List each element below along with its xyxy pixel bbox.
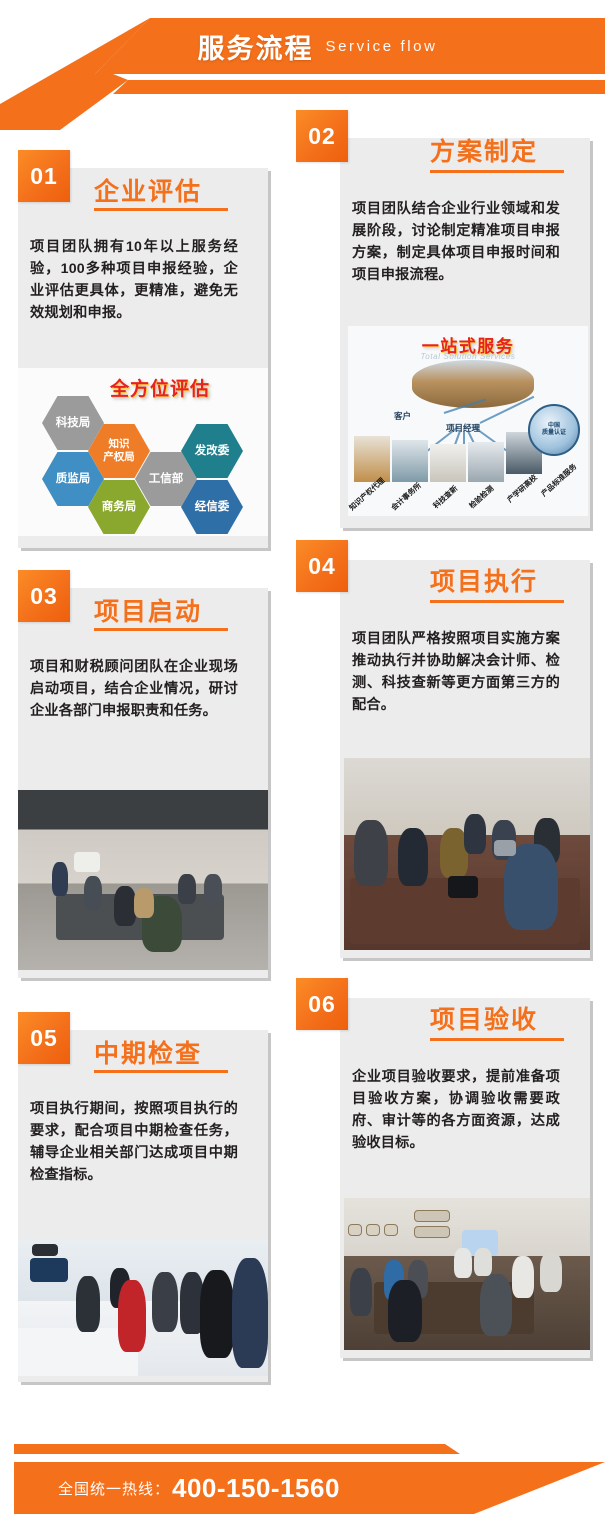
card-01-title-rule [94,208,228,211]
photo-person [52,862,68,896]
hexagon-chart-title: 全方位评估 [110,374,210,401]
card-05-number: 05 [30,1025,58,1052]
page-subtitle: Service flow [325,38,437,55]
card-01-number-badge: 01 [18,150,70,202]
card-06-number: 06 [308,991,336,1018]
one-stop-hero-photo [412,360,534,408]
service-flow-infographic: 服务流程 Service flow 01 企业评估 项目团队拥有10年以上服务经… [0,0,605,1538]
photo-certificate-frame [366,1224,380,1236]
photo-person [540,1252,562,1292]
footer-hotline-number[interactable]: 400-150-1560 [172,1473,340,1504]
card-05-title-rule [94,1070,228,1073]
photo-person [504,844,558,930]
card-04-number-badge: 04 [296,540,348,592]
card-02-number-badge: 02 [296,110,348,162]
photo-display-screen [30,1258,68,1282]
header-title-group: 服务流程 Service flow [0,18,605,74]
photo-person [464,814,486,854]
footer-hotline: 全国统一热线： 400-150-1560 [58,1462,340,1514]
one-stop-node-photo [430,444,466,482]
page-header: 服务流程 Service flow [0,0,605,110]
seal-label: 中国 质量认证 [542,423,566,437]
card-06-photo [344,1198,590,1350]
one-stop-label-manager: 项目经理 [446,422,480,434]
card-06-title-rule [430,1038,564,1041]
card-02-body: 项目团队结合企业行业领域和发展阶段，讨论制定精准项目申报方案，制定具体项目申报时… [352,198,560,286]
one-stop-label-customer: 客户 [394,410,411,422]
photo-meeting-room [18,790,268,970]
hexagon-node-label: 经信委 [195,501,230,514]
card-05-photo [18,1240,268,1376]
card-05-title: 中期检查 [94,1034,202,1070]
photo-laptop [494,840,516,856]
photo-person [512,1256,534,1298]
photo-person [76,1276,100,1332]
photo-person [350,1268,372,1316]
photo-person [178,874,196,904]
photo-person [204,874,222,904]
one-stop-branch-label: 产学研高校 [505,472,540,505]
card-01-number: 01 [30,163,58,190]
card-06-title: 项目验收 [430,1000,538,1036]
photo-conference-hall [344,1198,590,1350]
photo-person [454,1248,472,1278]
hexagon-chart: 全方位评估 科技局 知识 产权局 质监局 商务局 工信部 发改委 经信委 [18,368,268,536]
one-stop-node-photo [392,440,428,482]
one-stop-branch-label: 科技查新 [431,483,460,511]
photo-person [84,876,102,910]
photo-person [354,820,388,886]
one-stop-branch-label: 产品标准服务 [539,461,579,499]
card-03-number-badge: 03 [18,570,70,622]
photo-certificate-frame [414,1210,450,1222]
hexagon-node-label: 科技局 [56,417,91,430]
photo-person [232,1258,268,1368]
photo-office-working [344,758,590,950]
card-03-number: 03 [30,583,58,610]
card-04-title-rule [430,600,564,603]
page-footer: 全国统一热线： 400-150-1560 [0,1418,605,1538]
photo-person [388,1280,422,1342]
one-stop-branch-label: 检验检测 [467,483,496,511]
footer-hotline-label: 全国统一热线： [58,1478,170,1499]
card-01-title: 企业评估 [94,172,202,208]
photo-person [398,828,428,886]
card-02-number: 02 [308,123,336,150]
photo-person [118,1280,146,1352]
photo-person [480,1274,512,1336]
hexagon-node-label: 知识 产权局 [103,438,135,464]
card-04-title: 项目执行 [430,562,538,598]
footer-orange-stripe [14,1444,605,1454]
photo-person [474,1248,492,1276]
hexagon-node-label: 质监局 [56,473,91,486]
page-title: 服务流程 [197,27,313,66]
card-05-body: 项目执行期间，按照项目执行的要求，配合项目中期检查任务，辅导企业相关部门达成项目… [30,1098,238,1186]
hexagon-node-label: 工信部 [149,473,184,486]
card-04-photo [344,758,590,950]
one-stop-service-chart: 一站式服务 Total Solution Services 客户 项目经理 中国… [348,326,588,516]
photo-certificate-frame [384,1224,398,1236]
photo-laptop [448,876,478,898]
one-stop-node-photo [468,442,504,482]
card-05-number-badge: 05 [18,1012,70,1064]
card-06-body: 企业项目验收要求，提前准备项目验收方案，协调验收需要政府、审计等的各方面资源，达… [352,1066,560,1154]
photo-showroom-visit [18,1240,268,1376]
card-02-title-rule [430,170,564,173]
photo-person [200,1270,234,1358]
card-03-body: 项目和财税顾问团队在企业现场启动项目，结合企业情况，研讨企业各部门申报职责和任务… [30,656,238,722]
card-01-body: 项目团队拥有10年以上服务经验，100多种项目申报经验，企业评估更具体，更精准，… [30,236,238,324]
card-03-title-rule [94,628,228,631]
photo-certificate-frame [414,1226,450,1238]
card-02-title: 方案制定 [430,132,538,168]
card-03-title: 项目启动 [94,592,202,628]
photo-certificate-frame [348,1224,362,1236]
photo-person [114,886,136,926]
hexagon-node-label: 商务局 [102,501,137,514]
photo-display-screen [32,1244,58,1256]
one-stop-node-photo [354,436,390,482]
card-06-number-badge: 06 [296,978,348,1030]
photo-person [152,1272,178,1332]
photo-person [134,888,154,918]
certification-seal-icon: 中国 质量认证 [528,404,580,456]
card-03-photo [18,790,268,970]
card-04-number: 04 [308,553,336,580]
photo-whiteboard [74,852,100,872]
hexagon-node-label: 发改委 [195,445,230,458]
one-stop-branch-label: 会计事务所 [389,480,424,513]
card-04-body: 项目团队严格按照项目实施方案推动执行并协助解决会计师、检测、科技查新等更方面第三… [352,628,560,716]
